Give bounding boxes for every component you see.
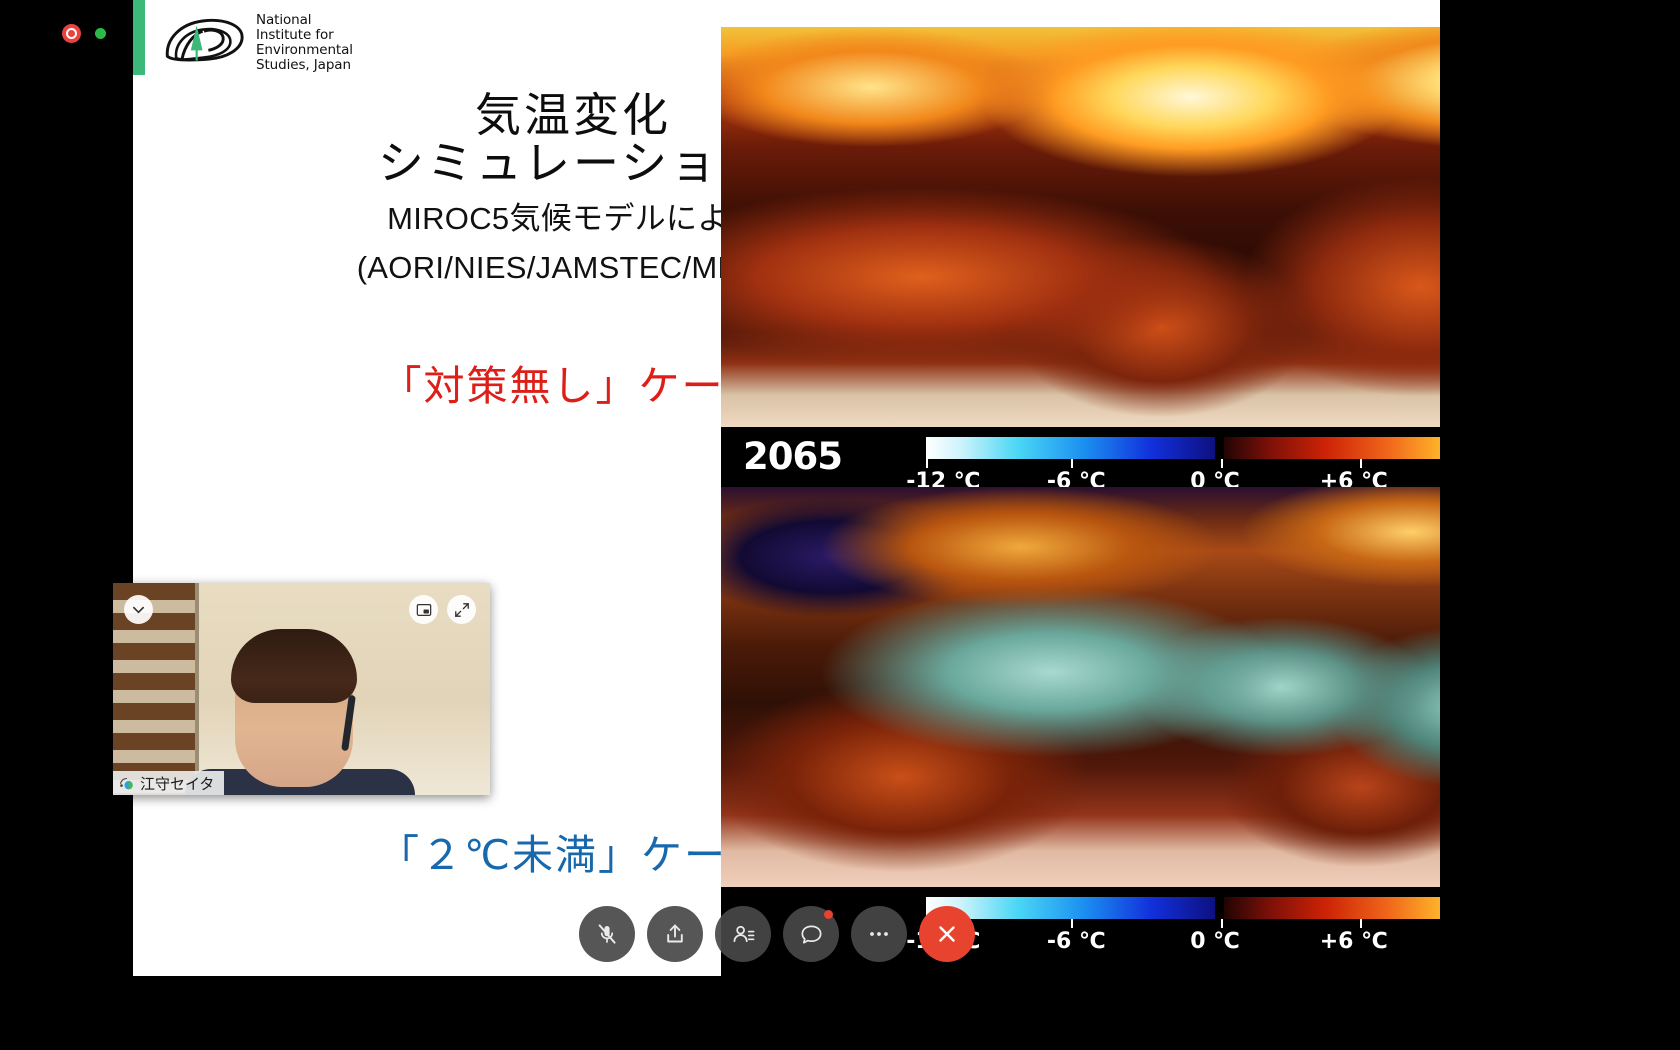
- share-screen-button[interactable]: [647, 906, 703, 962]
- climate-video-panel[interactable]: 2065 -12 ℃: [721, 27, 1440, 976]
- self-view-hair: [231, 629, 357, 703]
- colorbar-label-b2: 0 ℃: [1190, 929, 1240, 954]
- colorbar-tick-b2: [1221, 919, 1223, 928]
- mute-microphone-button[interactable]: [579, 906, 635, 962]
- logo-line-2: Institute for: [256, 28, 353, 43]
- self-view-video[interactable]: 江守セイタ: [113, 583, 490, 795]
- network-status-icon: [119, 776, 134, 791]
- colorbar-tick-0: [926, 459, 928, 468]
- colorbar-ticks: [926, 459, 1440, 469]
- slide-accent-bar: [133, 0, 145, 75]
- colorbar-tick-2: [1221, 459, 1223, 468]
- collapse-self-view-button[interactable]: [124, 595, 153, 624]
- colorbar-strip-top: 2065 -12 ℃: [721, 427, 1440, 487]
- world-map-no-mitigation: [721, 27, 1440, 427]
- colorbar-tick-3: [1360, 459, 1362, 468]
- participants-icon: [731, 922, 756, 947]
- chevron-down-icon: [131, 602, 146, 617]
- chat-unread-badge: [824, 910, 833, 919]
- logo-line-3: Environmental: [256, 43, 353, 58]
- recording-dot-icon: [62, 24, 81, 43]
- colorbar-labels-bottom: -12 ℃ -6 ℃ 0 ℃ +6 ℃ +12 ℃: [926, 929, 1440, 955]
- self-view-blind-edge: [195, 583, 199, 795]
- year-label: 2065: [743, 435, 842, 478]
- microphone-muted-icon: [595, 922, 619, 946]
- close-icon: [934, 921, 960, 947]
- recording-status-group: [62, 24, 106, 43]
- colorbar-label-b3: +6 ℃: [1320, 929, 1388, 954]
- left-letterbox: [0, 0, 133, 976]
- expand-self-view-button[interactable]: [447, 595, 476, 624]
- bottom-letterbox: [0, 976, 1680, 1050]
- logo-line-1: National: [256, 13, 353, 28]
- colorbar-gradient: [926, 437, 1440, 459]
- nies-logo: National Institute for Environmental Stu…: [160, 12, 353, 74]
- chat-bubble-icon: [799, 922, 824, 947]
- colorbar-gradient-bottom: [926, 897, 1440, 919]
- colorbar-gap-bottom: [1215, 897, 1224, 919]
- self-view-participant-name: 江守セイタ: [140, 773, 214, 794]
- colorbar-ticks-bottom: [926, 919, 1440, 929]
- participants-button[interactable]: [715, 906, 771, 962]
- colorbar-tick-b1: [1071, 919, 1073, 928]
- colorbar-tick-b3: [1360, 919, 1362, 928]
- picture-in-picture-icon: [416, 602, 432, 618]
- world-map-below-2c: [721, 487, 1440, 887]
- chat-button[interactable]: [783, 906, 839, 962]
- more-horizontal-icon: [866, 921, 892, 947]
- colorbar-gap: [1215, 437, 1224, 459]
- logo-line-4: Studies, Japan: [256, 58, 353, 73]
- app-window: National Institute for Environmental Stu…: [0, 0, 1680, 1050]
- nies-logo-text: National Institute for Environmental Stu…: [256, 13, 353, 74]
- colorbar-label-b1: -6 ℃: [1047, 929, 1106, 954]
- colorbar-bottom: -12 ℃ -6 ℃ 0 ℃ +6 ℃ +12 ℃: [926, 897, 1440, 955]
- more-options-button[interactable]: [851, 906, 907, 962]
- right-letterbox: [1440, 0, 1680, 976]
- share-icon: [663, 922, 687, 946]
- status-dot-icon: [95, 28, 106, 39]
- meeting-control-bar: [573, 900, 992, 968]
- colorbar-cold-ramp: [926, 437, 1215, 459]
- nies-logo-mark-icon: [160, 12, 248, 74]
- presentation-slide: National Institute for Environmental Stu…: [133, 0, 1440, 976]
- self-view-name-badge: 江守セイタ: [113, 771, 224, 795]
- end-call-button[interactable]: [919, 906, 975, 962]
- expand-icon: [454, 602, 470, 618]
- picture-in-picture-button[interactable]: [409, 595, 438, 624]
- colorbar-hot-ramp: [1224, 437, 1440, 459]
- colorbar-hot-ramp-bottom: [1224, 897, 1440, 919]
- colorbar-tick-1: [1071, 459, 1073, 468]
